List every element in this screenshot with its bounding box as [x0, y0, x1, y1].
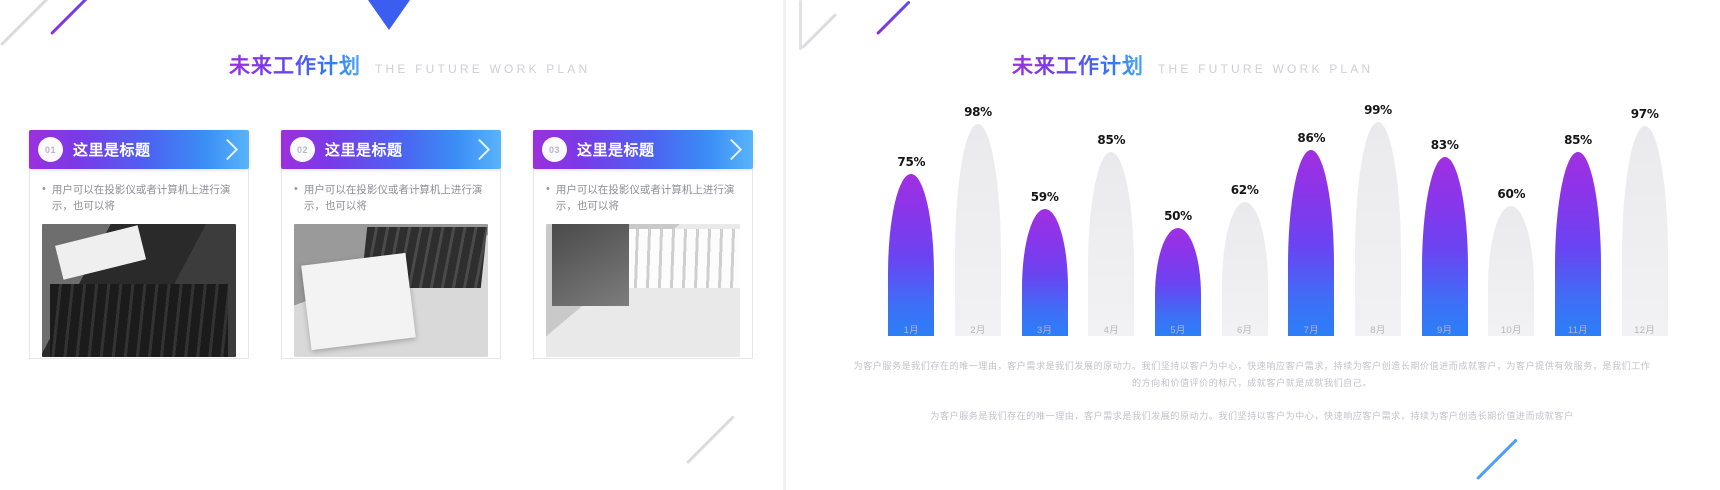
chart-bar-shape: [1422, 157, 1468, 336]
chart-bar-value-label: 86%: [1297, 131, 1325, 145]
decorative-grey-diagonal-right: [801, 13, 837, 49]
chart-bar-shape: [1288, 150, 1334, 336]
chart-bar-value-label: 83%: [1431, 138, 1459, 152]
card-bullet-row: • 用户可以在投影仪或者计算机上进行演示，也可以将: [546, 182, 740, 214]
slide-right: 未来工作计划 THE FUTURE WORK PLAN 75%98%59%85%…: [786, 0, 1720, 490]
chart-bar: 59%: [1022, 86, 1068, 336]
decorative-triangle-top-left-2: [347, 0, 431, 30]
page-title-cn: 未来工作计划: [229, 50, 361, 80]
chart-month-label: 9月: [1411, 322, 1478, 336]
card-item[interactable]: 01 这里是标题 • 用户可以在投影仪或者计算机上进行演示，也可以将: [29, 130, 249, 359]
chart-bar-shape: [1155, 228, 1201, 336]
bullet-icon: •: [546, 182, 550, 214]
card-body: • 用户可以在投影仪或者计算机上进行演示，也可以将: [281, 169, 501, 359]
card-list: 01 这里是标题 • 用户可以在投影仪或者计算机上进行演示，也可以将 02 这里…: [29, 130, 753, 359]
card-header[interactable]: 01 这里是标题: [29, 130, 249, 169]
card-header[interactable]: 02 这里是标题: [281, 130, 501, 169]
card-body-text: 用户可以在投影仪或者计算机上进行演示，也可以将: [52, 182, 236, 214]
chart-bar-shape: [1555, 152, 1601, 336]
chart-month-label: 6月: [1211, 322, 1278, 336]
paragraph-1: 为客户服务是我们存在的唯一理由，客户需求是我们发展的原动力。我们坚持以客户为中心…: [852, 358, 1652, 392]
chart-bar: 86%: [1288, 86, 1334, 336]
decorative-purple-diagonal-left: [50, 0, 117, 35]
chart-bar-value-label: 50%: [1164, 209, 1192, 223]
chart-bar: 62%: [1222, 86, 1268, 336]
decorative-triangle-top-right: [1175, 0, 1259, 30]
card-title: 这里是标题: [325, 139, 403, 160]
card-photo: [42, 224, 236, 357]
card-bullet-row: • 用户可以在投影仪或者计算机上进行演示，也可以将: [42, 182, 236, 214]
chart-bar-shape: [888, 174, 934, 336]
bullet-icon: •: [42, 182, 46, 214]
chevron-right-icon[interactable]: [721, 139, 742, 160]
chart-bar: 97%: [1622, 86, 1668, 336]
card-photo: [546, 224, 740, 357]
card-number-badge: 01: [38, 137, 63, 162]
chart-bar: 99%: [1355, 86, 1401, 336]
chart-bar-value-label: 99%: [1364, 103, 1392, 117]
chart-bar: 83%: [1422, 86, 1468, 336]
chart-month-label: 11月: [1545, 322, 1612, 336]
chart-month-label: 10月: [1478, 322, 1545, 336]
chart-bar: 75%: [888, 86, 934, 336]
decorative-vertical-line-right: [799, 0, 802, 50]
chart-bar-value-label: 75%: [897, 155, 925, 169]
chart-month-label: 5月: [1145, 322, 1212, 336]
card-body-text: 用户可以在投影仪或者计算机上进行演示，也可以将: [556, 182, 740, 214]
card-body-text: 用户可以在投影仪或者计算机上进行演示，也可以将: [304, 182, 488, 214]
chart-bar: 98%: [955, 86, 1001, 336]
chart-month-label: 2月: [945, 322, 1012, 336]
chart-month-label: 4月: [1078, 322, 1145, 336]
page-title-cn: 未来工作计划: [1012, 50, 1144, 80]
chart-month-label: 1月: [878, 322, 945, 336]
chevron-right-icon[interactable]: [469, 139, 490, 160]
page-title-en: THE FUTURE WORK PLAN: [375, 62, 590, 76]
chevron-right-icon[interactable]: [217, 139, 238, 160]
bar-chart: 75%98%59%85%50%62%86%99%83%60%85%97%: [878, 86, 1678, 336]
card-photo: [294, 224, 488, 357]
chart-bar-shape: [1088, 152, 1134, 336]
card-title: 这里是标题: [577, 139, 655, 160]
chart-bar-value-label: 59%: [1031, 190, 1059, 204]
chart-bar-shape: [1488, 206, 1534, 336]
decorative-purple-diagonal-right: [876, 0, 911, 35]
card-item[interactable]: 02 这里是标题 • 用户可以在投影仪或者计算机上进行演示，也可以将: [281, 130, 501, 359]
card-number-badge: 02: [290, 137, 315, 162]
chart-bar-value-label: 62%: [1231, 183, 1259, 197]
chart-month-label: 3月: [1011, 322, 1078, 336]
paragraph-2: 为客户服务是我们存在的唯一理由，客户需求是我们发展的原动力。我们坚持以客户为中心…: [852, 408, 1652, 425]
chart-bar: 85%: [1555, 86, 1601, 336]
chart-bar-shape: [1355, 122, 1401, 336]
chart-bar-shape: [1622, 126, 1668, 336]
chart-month-label: 7月: [1278, 322, 1345, 336]
card-body: • 用户可以在投影仪或者计算机上进行演示，也可以将: [29, 169, 249, 359]
page-title-en: THE FUTURE WORK PLAN: [1158, 62, 1373, 76]
chart-bar-value-label: 97%: [1631, 107, 1659, 121]
chart-bar-shape: [1222, 202, 1268, 336]
decorative-blue-diagonal-bottom-right: [1476, 438, 1518, 480]
chart-bar: 50%: [1155, 86, 1201, 336]
chart-bar: 85%: [1088, 86, 1134, 336]
card-title: 这里是标题: [73, 139, 151, 160]
chart-bar-value-label: 60%: [1497, 187, 1525, 201]
chart-x-axis-labels: 1月2月3月4月5月6月7月8月9月10月11月12月: [878, 322, 1678, 340]
chart-month-label: 8月: [1345, 322, 1412, 336]
chart-bar-shape: [955, 124, 1001, 336]
bullet-icon: •: [294, 182, 298, 214]
card-number-badge: 03: [542, 137, 567, 162]
chart-bar-value-label: 85%: [1097, 133, 1125, 147]
page-title: 未来工作计划 THE FUTURE WORK PLAN: [1012, 50, 1373, 80]
chart-bar-value-label: 85%: [1564, 133, 1592, 147]
slide-left: 未来工作计划 THE FUTURE WORK PLAN 01 这里是标题 • 用…: [0, 0, 783, 490]
chart-month-label: 12月: [1611, 322, 1678, 336]
card-item[interactable]: 03 这里是标题 • 用户可以在投影仪或者计算机上进行演示，也可以将: [533, 130, 753, 359]
page-title: 未来工作计划 THE FUTURE WORK PLAN: [229, 50, 590, 80]
chart-bar-value-label: 98%: [964, 105, 992, 119]
decorative-grey-diagonal-left: [0, 0, 80, 46]
card-header[interactable]: 03 这里是标题: [533, 130, 753, 169]
chart-bar: 60%: [1488, 86, 1534, 336]
card-bullet-row: • 用户可以在投影仪或者计算机上进行演示，也可以将: [294, 182, 488, 214]
decorative-grey-diagonal-bottom-left: [686, 415, 735, 464]
card-body: • 用户可以在投影仪或者计算机上进行演示，也可以将: [533, 169, 753, 359]
chart-bar-shape: [1022, 209, 1068, 336]
slide-deck-canvas: 未来工作计划 THE FUTURE WORK PLAN 01 这里是标题 • 用…: [0, 0, 1720, 490]
